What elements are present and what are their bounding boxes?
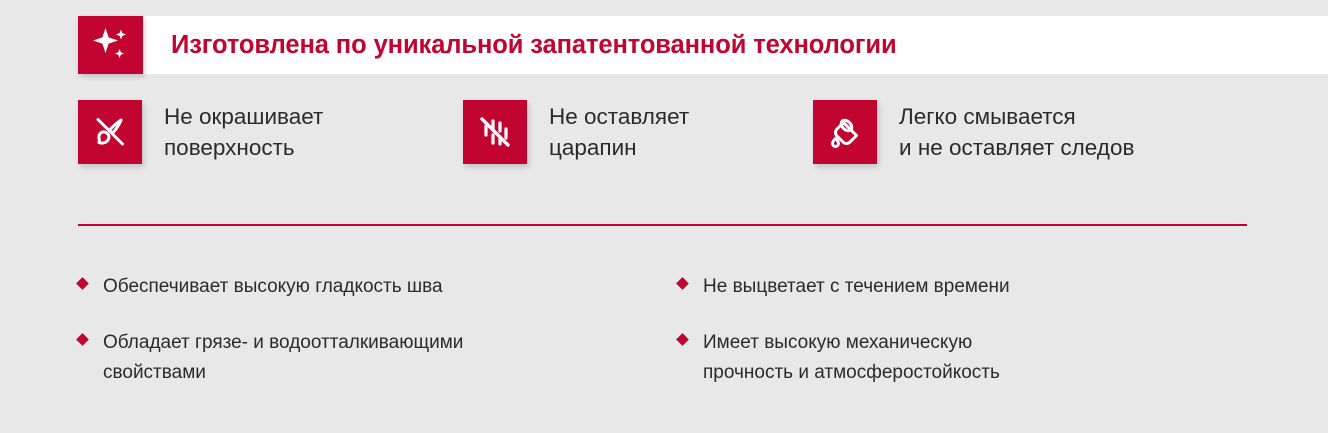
list-item-line: Имеет высокую механическую bbox=[703, 328, 1000, 358]
list-item-line: свойствами bbox=[103, 358, 463, 388]
diamond-bullet-icon bbox=[676, 333, 689, 346]
header: Изготовлена по уникальной запатентованно… bbox=[78, 16, 897, 74]
diamond-bullet-icon bbox=[76, 277, 89, 290]
feature-list: Не окрашивает поверхность Не оставляет ц… bbox=[78, 100, 1258, 164]
feature-label: Не оставляет царапин bbox=[549, 100, 689, 163]
feature-label-line: и не оставляет следов bbox=[899, 132, 1134, 163]
feature-item-easy-wash: Легко смывается и не оставляет следов bbox=[813, 100, 1233, 164]
benefits-column-right: Не выцветает с течением времени Имеет вы… bbox=[678, 272, 1238, 414]
diamond-bullet-icon bbox=[676, 277, 689, 290]
feature-item-no-scratches: Не оставляет царапин bbox=[463, 100, 813, 164]
list-item-line: Не выцветает с течением времени bbox=[703, 272, 1010, 302]
section-divider bbox=[78, 224, 1247, 226]
feature-label: Не окрашивает поверхность bbox=[164, 100, 323, 163]
no-scratches-icon bbox=[463, 100, 527, 164]
list-item-line: Обеспечивает высокую гладкость шва bbox=[103, 272, 443, 302]
list-item: Обладает грязе- и водоотталкивающими сво… bbox=[78, 328, 678, 388]
feature-label-line: царапин bbox=[549, 132, 689, 163]
diamond-bullet-icon bbox=[76, 333, 89, 346]
sparkle-icon bbox=[78, 16, 143, 74]
list-item-label: Имеет высокую механическую прочность и а… bbox=[703, 328, 1000, 388]
no-paintbrush-icon bbox=[78, 100, 142, 164]
feature-item-no-paint: Не окрашивает поверхность bbox=[78, 100, 463, 164]
list-item-line: прочность и атмосферостойкость bbox=[703, 358, 1000, 388]
list-item-line: Обладает грязе- и водоотталкивающими bbox=[103, 328, 463, 358]
list-item: Обеспечивает высокую гладкость шва bbox=[78, 272, 678, 302]
feature-label: Легко смывается и не оставляет следов bbox=[899, 100, 1134, 163]
page-title: Изготовлена по уникальной запатентованно… bbox=[171, 31, 897, 60]
list-item-label: Обладает грязе- и водоотталкивающими сво… bbox=[103, 328, 463, 388]
feature-label-line: Не оставляет bbox=[549, 101, 689, 132]
list-item: Имеет высокую механическую прочность и а… bbox=[678, 328, 1238, 388]
list-item-label: Обеспечивает высокую гладкость шва bbox=[103, 272, 443, 302]
list-item: Не выцветает с течением времени bbox=[678, 272, 1238, 302]
feature-label-line: Не окрашивает bbox=[164, 101, 323, 132]
feature-label-line: поверхность bbox=[164, 132, 323, 163]
benefits-list: Обеспечивает высокую гладкость шва Облад… bbox=[78, 272, 1258, 414]
paint-bucket-drop-icon bbox=[813, 100, 877, 164]
benefits-column-left: Обеспечивает высокую гладкость шва Облад… bbox=[78, 272, 678, 414]
feature-label-line: Легко смывается bbox=[899, 101, 1134, 132]
list-item-label: Не выцветает с течением времени bbox=[703, 272, 1010, 302]
